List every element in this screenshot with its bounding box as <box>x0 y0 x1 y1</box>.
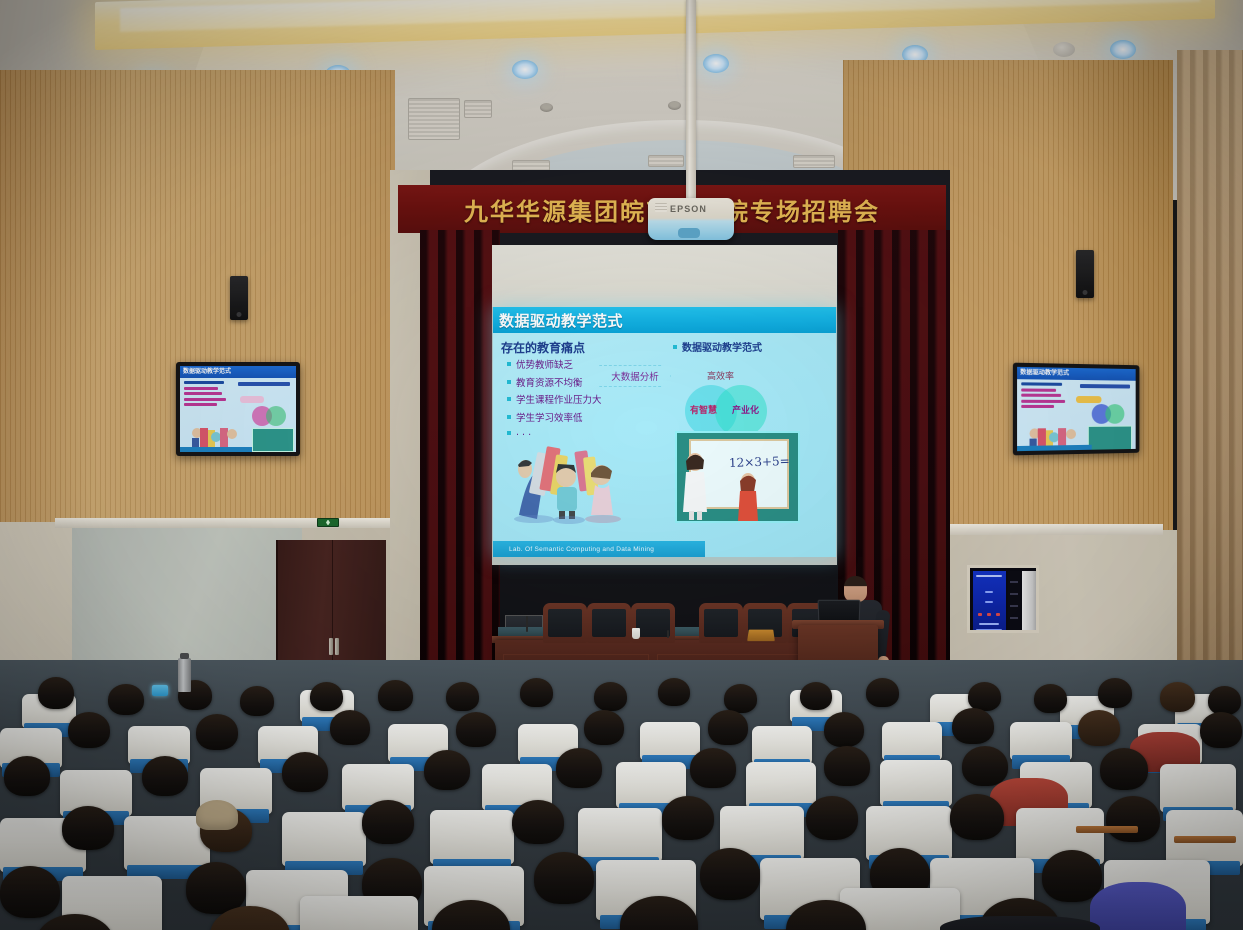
audience-head <box>142 756 188 796</box>
big-data-chevron: 大数据分析 <box>599 365 671 387</box>
stage-chair <box>587 603 631 643</box>
chair-back <box>704 609 738 637</box>
audience-chair <box>640 722 700 760</box>
audience-head <box>186 862 246 914</box>
audience-head <box>962 746 1008 786</box>
big-data-chevron-label: 大数据分析 <box>611 369 659 383</box>
audience-head <box>240 686 274 716</box>
audience-head <box>282 752 328 792</box>
ceiling-fixture <box>540 103 553 112</box>
audience-chair <box>282 812 366 866</box>
stage-chair <box>543 603 587 643</box>
audience-head <box>520 678 553 707</box>
audience-head <box>196 714 238 750</box>
monitor-footer-bar <box>180 447 252 452</box>
seat-armrest <box>1076 826 1138 833</box>
chair-back <box>592 609 626 637</box>
smoke-detector <box>1053 42 1075 57</box>
wall-left-wood-panel <box>0 70 395 530</box>
audience-head <box>866 678 899 707</box>
audience-chair <box>430 810 514 864</box>
monitor-venn-right <box>1105 404 1124 424</box>
slide-bullet-text: 优势教师缺乏 <box>516 357 573 371</box>
audience-head <box>68 712 110 748</box>
slide-title-bar: 数据驱动教学范式 <box>493 307 836 333</box>
audience-head <box>424 750 470 790</box>
chair-back <box>548 609 582 637</box>
running-man-icon <box>326 520 330 525</box>
ceiling-spotlight <box>703 54 729 73</box>
audience-chair <box>880 760 952 806</box>
audience-head <box>1100 748 1148 790</box>
audience-head <box>446 682 479 711</box>
monitor-classroom-photo <box>1088 426 1132 451</box>
audience-chair <box>882 722 942 760</box>
audience-head <box>724 684 757 713</box>
audience-chair <box>578 808 662 862</box>
slide-bullet-item: 教育资源不均衡 <box>507 375 602 389</box>
slide-bullet-text: 学生学习效率低 <box>516 410 583 424</box>
ac-vent <box>464 100 492 118</box>
monitor-slide-title: 数据驱动教学范式 <box>183 366 296 378</box>
audience-head <box>556 748 602 788</box>
auditorium-photo: 九华华源集团皖南医学院专场招聘会 EPSON 数据驱动教学范式 存在的教育痛点 … <box>0 0 1243 930</box>
whiteboard-equation: 12×3+5= <box>729 454 790 470</box>
cartoon-students-illustration <box>509 429 629 525</box>
projection-screen-blank-top <box>492 245 837 307</box>
audience-head <box>456 712 496 747</box>
classroom-photo: 12×3+5= <box>675 431 800 523</box>
slide-bullet-item: 学生学习效率低 <box>507 410 602 424</box>
door-handle[interactable] <box>329 638 333 655</box>
audience-head <box>1106 796 1160 842</box>
audience-head <box>824 746 870 786</box>
monitor-venn-right <box>266 406 286 426</box>
wall-left-ledge <box>55 518 405 528</box>
audience-head <box>662 796 714 840</box>
monitor-classroom-photo <box>252 428 294 452</box>
wall-speaker-right <box>1076 250 1094 298</box>
microphone <box>526 616 528 632</box>
slide-footer-text: Lab. Of Semantic Computing and Data Mini… <box>509 546 654 553</box>
slide-bullet-item: 学生课程作业压力大 <box>507 392 602 406</box>
audience-head <box>658 678 690 706</box>
audience-head <box>1208 686 1241 715</box>
audience-head <box>1160 682 1195 712</box>
projector: EPSON <box>648 198 734 240</box>
audience-head <box>1034 684 1067 713</box>
teacher-figure <box>681 451 709 521</box>
monitor-chevron-chip <box>1076 396 1101 403</box>
audience-chair <box>1010 722 1072 760</box>
bullet-square-icon <box>507 397 511 401</box>
audience-chair <box>752 726 812 764</box>
audience-head <box>1200 712 1242 748</box>
audience-chair <box>1160 764 1236 812</box>
info-panel-screen <box>973 571 1006 633</box>
audience-head <box>594 682 627 711</box>
audience-jacket <box>940 916 1100 930</box>
slide-bullet-text: 学生课程作业压力大 <box>516 392 602 406</box>
info-panel-dark-strip <box>1008 571 1020 633</box>
venn-right-label: 产业化 <box>732 403 759 416</box>
audience-head <box>378 680 413 711</box>
wall-monitor-right-screen: 数据驱动教学范式 <box>1017 367 1136 451</box>
ceiling-spotlight <box>512 60 538 79</box>
slide-left-heading: 存在的教育痛点 <box>501 339 585 356</box>
student-figure <box>737 473 759 523</box>
projector-vent <box>655 203 667 212</box>
slide-right-heading-text: 数据驱动教学范式 <box>682 339 762 354</box>
monitor-slide-title-bar: 数据驱动教学范式 <box>1017 367 1136 381</box>
monitor-bullets <box>1021 382 1065 410</box>
stage-chair <box>699 603 743 643</box>
audience-area <box>0 660 1243 930</box>
audience-head <box>824 712 864 747</box>
info-panel-light-strip <box>1022 571 1039 633</box>
audience-head <box>584 710 624 745</box>
audience-head <box>534 852 594 904</box>
slide-content: 数据驱动教学范式 存在的教育痛点 优势教师缺乏 教育资源不均衡 学生课程作业压力… <box>493 307 836 557</box>
audience-head <box>1098 678 1132 708</box>
water-cup <box>632 628 640 639</box>
wall-monitor-right[interactable]: 数据驱动教学范式 <box>1013 363 1140 456</box>
audience-head <box>800 682 832 710</box>
audience-head <box>4 756 50 796</box>
nameplate <box>747 630 775 641</box>
bullet-square-icon <box>507 362 511 366</box>
audience-head <box>700 848 760 900</box>
presenter-head <box>844 576 867 602</box>
exit-sign-icon <box>317 518 339 527</box>
audience-head <box>806 796 858 840</box>
door-handle[interactable] <box>335 638 339 655</box>
venn-left-label: 有智慧 <box>690 403 717 416</box>
audience-chair <box>300 896 418 930</box>
audience-hood <box>1090 882 1186 930</box>
slide-footer: Lab. Of Semantic Computing and Data Mini… <box>493 541 705 557</box>
knit-hat <box>196 800 238 830</box>
audience-chair <box>746 762 816 808</box>
slide-title: 数据驱动教学范式 <box>499 310 623 331</box>
audience-head <box>1042 850 1102 902</box>
audience-head <box>950 794 1004 840</box>
projector-brand-label: EPSON <box>670 204 707 214</box>
audience-head <box>952 708 994 744</box>
audience-head <box>330 710 370 745</box>
monitor-right-heading <box>1080 384 1130 388</box>
slide-right-heading: 数据驱动教学范式 <box>673 339 762 354</box>
bullet-square-icon <box>673 345 677 349</box>
venn-top-label: 高效率 <box>707 369 734 382</box>
slide-bullet-item: 优势教师缺乏 <box>507 357 602 371</box>
monitor-chevron-chip <box>240 396 264 403</box>
monitor-bullets <box>184 381 226 409</box>
audience-head <box>0 866 60 918</box>
digital-info-panel[interactable] <box>967 565 1039 633</box>
ac-vent <box>793 155 835 168</box>
thermos-flask <box>178 658 191 692</box>
stage-curtain-left <box>420 230 500 660</box>
ac-vent <box>648 155 684 167</box>
audience-phone[interactable] <box>152 685 168 696</box>
monitor-right-heading <box>238 382 290 386</box>
microphone <box>667 630 669 638</box>
slide-bullet-text: 教育资源不均衡 <box>516 375 583 389</box>
wall-speaker-left <box>230 276 248 320</box>
projector-lens <box>678 228 700 238</box>
audience-head <box>708 710 748 745</box>
audience-head <box>62 806 114 850</box>
projector-mount-pole <box>686 0 696 205</box>
bullet-square-icon <box>507 415 511 419</box>
audience-head <box>512 800 564 844</box>
thermos-cap <box>180 653 189 659</box>
audience-head <box>310 682 343 711</box>
monitor-slide-title-bar: 数据驱动教学范式 <box>180 366 296 378</box>
audience-head <box>362 800 414 844</box>
chair-back <box>636 609 670 637</box>
ac-vent <box>408 98 460 140</box>
audience-head <box>968 682 1001 711</box>
bullet-square-icon <box>507 380 511 384</box>
monitor-slide-title: 数据驱动教学范式 <box>1020 367 1135 381</box>
wall-monitor-left[interactable]: 数据驱动教学范式 <box>176 362 300 456</box>
monitor-footer-bar <box>1017 445 1092 451</box>
wall-monitor-left-screen: 数据驱动教学范式 <box>180 366 296 452</box>
audience-head <box>108 684 144 715</box>
audience-head <box>38 677 74 709</box>
ceiling-fixture <box>668 101 681 110</box>
audience-head <box>1078 710 1120 746</box>
side-curtain-right <box>1177 50 1243 660</box>
ceiling-spotlight <box>1110 40 1136 59</box>
seat-armrest <box>1174 836 1236 843</box>
audience-head <box>690 748 736 788</box>
